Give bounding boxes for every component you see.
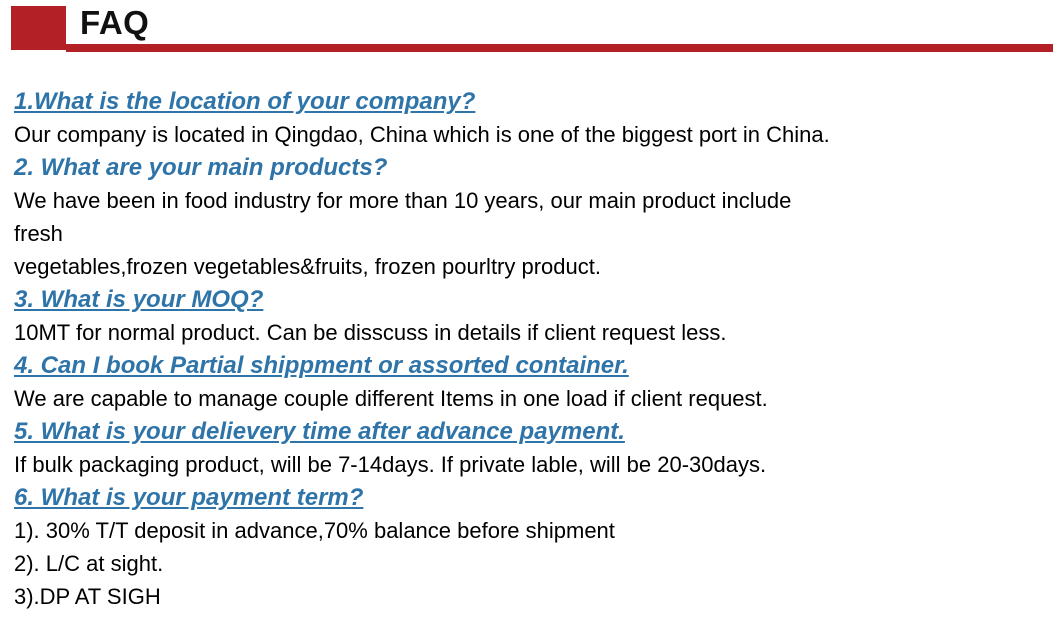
faq-item: 3. What is your MOQ?10MT for normal prod… xyxy=(14,283,1060,349)
faq-question[interactable]: 6. What is your payment term? xyxy=(14,481,363,514)
faq-item: 6. What is your payment term?1). 30% T/T… xyxy=(14,481,1060,613)
faq-header: FAQ xyxy=(0,0,1060,57)
page-title: FAQ xyxy=(80,2,149,44)
faq-question[interactable]: 1.What is the location of your company? xyxy=(14,85,475,118)
faq-answer-line: We are capable to manage couple differen… xyxy=(14,382,1060,415)
faq-question-row: 3. What is your MOQ? xyxy=(14,283,1060,316)
faq-question-row: 5. What is your delievery time after adv… xyxy=(14,415,1060,448)
header-accent-block xyxy=(11,6,66,50)
faq-answer-line: fresh xyxy=(14,217,1060,250)
header-accent-rule xyxy=(66,44,1053,52)
faq-question-row: 4. Can I book Partial shippment or assor… xyxy=(14,349,1060,382)
faq-item: 1.What is the location of your company?O… xyxy=(14,85,1060,151)
faq-answer-line: vegetables,frozen vegetables&fruits, fro… xyxy=(14,250,1060,283)
faq-question-row: 2. What are your main products? xyxy=(14,151,1060,184)
faq-answer-line: If bulk packaging product, will be 7-14d… xyxy=(14,448,1060,481)
faq-item: 2. What are your main products?We have b… xyxy=(14,151,1060,283)
faq-question[interactable]: 2. What are your main products? xyxy=(14,151,387,184)
faq-question[interactable]: 4. Can I book Partial shippment or assor… xyxy=(14,349,629,382)
faq-question-row: 6. What is your payment term? xyxy=(14,481,1060,514)
faq-page: FAQ 1.What is the location of your compa… xyxy=(0,0,1060,613)
faq-answer-line: 1). 30% T/T deposit in advance,70% balan… xyxy=(14,514,1060,547)
faq-answer-line: 3).DP AT SIGH xyxy=(14,580,1060,613)
faq-question[interactable]: 3. What is your MOQ? xyxy=(14,283,263,316)
faq-question[interactable]: 5. What is your delievery time after adv… xyxy=(14,415,625,448)
faq-item: 5. What is your delievery time after adv… xyxy=(14,415,1060,481)
faq-answer-line: We have been in food industry for more t… xyxy=(14,184,1060,217)
faq-item: 4. Can I book Partial shippment or assor… xyxy=(14,349,1060,415)
faq-answer-line: 10MT for normal product. Can be disscuss… xyxy=(14,316,1060,349)
faq-answer-line: Our company is located in Qingdao, China… xyxy=(14,118,1060,151)
faq-answer-line: 2). L/C at sight. xyxy=(14,547,1060,580)
faq-question-row: 1.What is the location of your company? xyxy=(14,85,1060,118)
faq-list: 1.What is the location of your company?O… xyxy=(0,57,1060,613)
